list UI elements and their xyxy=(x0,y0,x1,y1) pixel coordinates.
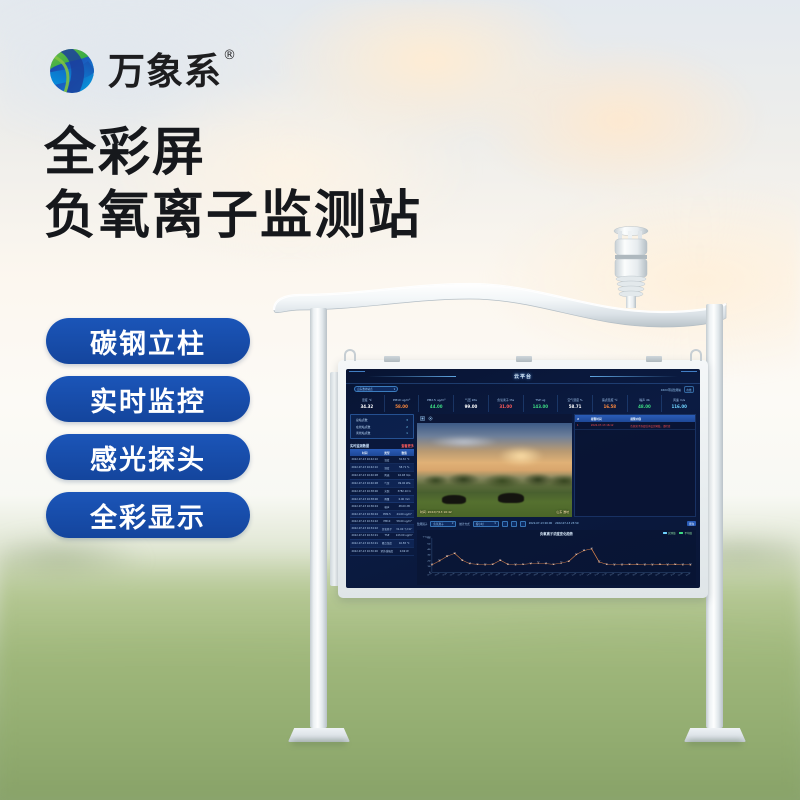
svg-text:14: 14 xyxy=(522,563,525,564)
metric-pm10: PM10 ug/m³ 58.00 xyxy=(385,395,420,412)
svg-text:14:00: 14:00 xyxy=(587,573,593,576)
svg-text:50: 50 xyxy=(427,544,431,545)
stat-value: 1 xyxy=(406,431,408,435)
video-location-overlay: 山东 潍坊 xyxy=(557,510,569,514)
cell-value: 3782.10 lx xyxy=(394,487,414,495)
metric-negative-ion: 负氧离子 ths 31.00 xyxy=(489,395,524,412)
svg-text:08:00: 08:00 xyxy=(518,573,524,576)
cell-type: 噪声 xyxy=(379,503,394,511)
metric-pressure: 气压 kPa 99.00 xyxy=(454,395,489,412)
svg-text:04:40: 04:40 xyxy=(480,573,486,576)
cell-value: 0.69 W xyxy=(394,547,414,555)
fullscreen-icon[interactable] xyxy=(420,416,425,421)
metric-label: 风速 m/s xyxy=(662,398,696,402)
stat-row-online: 在线站点数 2 xyxy=(356,425,408,429)
cell-type: 湿度 xyxy=(379,464,394,472)
cell-value: 99.00 kPa xyxy=(394,479,414,487)
video-toolbar xyxy=(417,414,572,423)
stat-label: 总站点数 xyxy=(356,418,368,422)
svg-text:13: 13 xyxy=(643,563,646,564)
right-support-post xyxy=(706,304,723,728)
stat-row-offline: 离线站点数 1 xyxy=(356,431,408,435)
svg-text:00:40: 00:40 xyxy=(434,573,440,576)
svg-text:16:00: 16:00 xyxy=(609,573,615,576)
cell-type: TSP xyxy=(379,532,394,539)
cell-type: 紫外线强度 xyxy=(379,547,394,555)
led-screen-dashboard[interactable]: 云平台 山东潍坊站点 ▾ XXXX环境监测站 在线 温度 ℃ 34.32 PM1… xyxy=(346,369,700,588)
svg-text:个/cm³: 个/cm³ xyxy=(423,536,431,538)
cabinet-hanger-left xyxy=(344,349,356,361)
svg-text:21: 21 xyxy=(461,559,464,560)
alarm-row[interactable]: 1 2022-07-13 16:12 负氧离子浓度低于设定阈值，请检查 xyxy=(575,422,695,430)
cell-value: 58.71 % xyxy=(394,464,414,472)
legend-label: 平均值 xyxy=(684,531,692,535)
metric-noise: 噪声 db 48.00 xyxy=(628,395,663,412)
svg-text:18:40: 18:40 xyxy=(640,573,646,576)
alarm-content: 负氧离子浓度低于设定阈值，请检查 xyxy=(630,424,693,428)
svg-text:10:40: 10:40 xyxy=(549,573,555,576)
metric-temperature: 温度 ℃ 34.32 xyxy=(350,395,385,412)
video-cloud xyxy=(429,436,499,448)
metric-label: 噪声 db xyxy=(628,398,662,402)
cabinet-clip-right xyxy=(646,356,662,362)
query-button[interactable]: 查询 xyxy=(687,521,696,526)
svg-text:38: 38 xyxy=(583,549,586,550)
cell-time: 2022-07-13 16:32:01 xyxy=(350,539,379,547)
table-row[interactable]: 2022-07-13 16:40:08气压99.00 kPa xyxy=(350,479,414,487)
svg-text:13: 13 xyxy=(484,563,487,564)
table-row[interactable]: 2022-07-13 16:38:06光照3782.10 lx xyxy=(350,487,414,495)
factor-select[interactable]: 负氧离子 ▾ xyxy=(430,521,456,527)
alarm-log-panel: # 报警时间 报警内容 1 2022-07-13 16:12 负氧离子浓度低于设… xyxy=(574,414,696,517)
cell-type: 负氧离子 xyxy=(379,525,394,533)
alarm-column-index: # xyxy=(577,417,591,421)
legend-label: 实测值 xyxy=(668,531,676,535)
chevron-down-icon: ▾ xyxy=(452,522,453,525)
table-row[interactable]: 2022-07-13 16:36:04噪声48.00 dB xyxy=(350,503,414,511)
table-header-bar: 实时监测数据 查看更多 xyxy=(350,442,414,449)
svg-text:14: 14 xyxy=(507,563,510,564)
metric-pm25: PM2.5 ug/m³ 44.00 xyxy=(419,395,454,412)
svg-text:08:40: 08:40 xyxy=(526,573,532,576)
cell-type: 温度 xyxy=(379,456,394,463)
table-section-title: 实时监测数据 xyxy=(350,443,369,448)
svg-text:15: 15 xyxy=(469,562,472,563)
video-cow-2 xyxy=(498,493,524,503)
svg-text:09:20: 09:20 xyxy=(533,573,539,576)
svg-text:14:40: 14:40 xyxy=(594,573,600,576)
svg-text:14: 14 xyxy=(552,563,555,564)
svg-text:01:20: 01:20 xyxy=(442,573,448,576)
metric-strip: 温度 ℃ 34.32 PM10 ug/m³ 58.00 PM2.5 ug/m³ … xyxy=(350,395,696,412)
svg-text:02:00: 02:00 xyxy=(450,573,456,576)
cell-time: 2022-07-13 16:30:00 xyxy=(350,547,379,555)
svg-text:16:40: 16:40 xyxy=(617,573,623,576)
legend-item-2: 平均值 xyxy=(679,531,692,535)
svg-text:18: 18 xyxy=(598,560,601,561)
left-column: 总站点数 3 在线站点数 2 离线站点数 1 实时监测数据 查看更多 xyxy=(350,414,414,544)
title-wing-left xyxy=(368,376,456,377)
svg-text:28: 28 xyxy=(446,555,449,556)
metric-label: PM10 ug/m³ xyxy=(385,398,419,402)
metric-value: 44.00 xyxy=(419,404,453,409)
svg-text:40: 40 xyxy=(427,549,431,550)
table-row[interactable]: 2022-07-13 16:30:00紫外线强度0.69 W xyxy=(350,547,414,555)
chart-svg: 0102030405060个/cm³1320283321151413142114… xyxy=(417,536,696,585)
column-header-value: 数值 xyxy=(394,449,414,456)
cell-value: 16.58 ℃ xyxy=(394,539,414,547)
svg-text:13:20: 13:20 xyxy=(579,573,585,576)
cell-time: 2022-07-13 16:36:04 xyxy=(350,511,379,518)
cell-type: 风速 xyxy=(379,471,394,479)
realtime-data-table: 时间 类型 数值 2022-07-13 16:42:10温度34.32 ℃202… xyxy=(350,449,414,556)
svg-text:06:40: 06:40 xyxy=(503,573,509,576)
chevron-down-icon: ▾ xyxy=(394,388,395,391)
cell-type: 光照 xyxy=(379,487,394,495)
svg-text:20: 20 xyxy=(427,561,431,562)
date-end[interactable]: 2022-07-13 23:59 xyxy=(555,522,578,525)
cell-value: 0.00 mm xyxy=(394,495,414,503)
svg-text:18:00: 18:00 xyxy=(632,573,638,576)
cell-value: 31.00 个/cm³ xyxy=(394,525,414,533)
svg-text:14: 14 xyxy=(628,563,631,564)
chevron-down-icon: ▾ xyxy=(494,522,495,525)
curved-canopy xyxy=(270,278,730,338)
cell-value: 48.00 dB xyxy=(394,503,414,511)
svg-text:31: 31 xyxy=(575,553,578,554)
metric-value: 48.00 xyxy=(628,404,662,409)
svg-text:13: 13 xyxy=(651,563,654,564)
station-selector-value: 山东潍坊站点 xyxy=(357,387,373,391)
svg-text:19:20: 19:20 xyxy=(647,573,653,576)
metric-label: 气压 kPa xyxy=(454,398,488,402)
cell-type: PM10 xyxy=(379,518,394,525)
svg-text:02:40: 02:40 xyxy=(457,573,463,576)
svg-text:10: 10 xyxy=(427,566,431,567)
metric-value: 99.00 xyxy=(454,404,488,409)
metric-label: TSP ug xyxy=(524,398,558,402)
title-wing-right xyxy=(590,376,678,377)
svg-text:12:40: 12:40 xyxy=(571,573,577,576)
svg-text:20:00: 20:00 xyxy=(655,573,661,576)
cell-time: 2022-07-13 16:38:06 xyxy=(350,487,379,495)
metric-humidity: 空气湿度 % 58.71 xyxy=(558,395,593,412)
svg-text:21:20: 21:20 xyxy=(670,573,676,576)
cell-type: 露点温度 xyxy=(379,539,394,547)
cell-time: 2022-07-13 16:40:08 xyxy=(350,479,379,487)
svg-text:14: 14 xyxy=(476,563,479,564)
cabinet-clip-left xyxy=(384,356,400,362)
metric-label: PM2.5 ug/m³ xyxy=(419,398,453,402)
metric-value: 34.32 xyxy=(350,404,384,409)
table-header-row: 时间 类型 数值 xyxy=(350,449,414,456)
stat-method-value: 按小时 xyxy=(476,522,484,526)
svg-text:30: 30 xyxy=(427,555,431,556)
cell-type: PM2.5 xyxy=(379,511,394,518)
station-status-badge: 在线 xyxy=(684,386,694,393)
column-header-type: 类型 xyxy=(379,449,394,456)
metric-value: 58.71 xyxy=(558,404,592,409)
svg-text:33: 33 xyxy=(453,552,456,553)
cell-time: 2022-07-13 16:42:10 xyxy=(350,456,379,463)
cell-value: 16.48 m/s xyxy=(394,471,414,479)
svg-text:20: 20 xyxy=(438,559,441,560)
cell-time: 2022-07-13 16:38:06 xyxy=(350,495,379,503)
svg-text:07:20: 07:20 xyxy=(510,573,516,576)
metric-dewpoint: 露点温度 ℃ 16.58 xyxy=(593,395,628,412)
svg-text:11:20: 11:20 xyxy=(556,573,562,576)
right-base-plate-shadow xyxy=(688,740,742,745)
ultrasonic-weather-sensor xyxy=(604,222,658,308)
snapshot-icon[interactable] xyxy=(428,416,433,421)
metric-value: 31.00 xyxy=(489,404,523,409)
table-row[interactable]: 2022-07-13 16:40:08风速16.48 m/s xyxy=(350,471,414,479)
svg-text:04:00: 04:00 xyxy=(472,573,478,576)
alarm-column-time: 报警时间 xyxy=(591,417,630,421)
control-label-factor: 监测因子 xyxy=(417,522,427,526)
svg-text:13: 13 xyxy=(431,563,434,564)
chart-control-strip: 监测因子 负氧离子 ▾ 统计方式 按小时 ▾ 2022-07-13 00:00 … xyxy=(417,519,696,528)
stat-value: 3 xyxy=(406,418,408,422)
video-treeline xyxy=(417,468,572,489)
dashboard-title-bar: 云平台 xyxy=(346,369,700,384)
metric-label: 露点温度 ℃ xyxy=(593,398,627,402)
stat-label: 在线站点数 xyxy=(356,425,370,429)
svg-text:22:40: 22:40 xyxy=(685,573,691,576)
alarm-column-content: 报警内容 xyxy=(630,417,693,421)
stat-row-total: 总站点数 3 xyxy=(356,418,408,422)
table-row[interactable]: 2022-07-13 16:38:06雨量0.00 mm xyxy=(350,495,414,503)
svg-text:14: 14 xyxy=(491,563,494,564)
table-row[interactable]: 2022-07-13 16:34:02PM1058.00 ug/m³ xyxy=(350,518,414,525)
cell-time: 2022-07-13 16:40:08 xyxy=(350,471,379,479)
svg-text:13: 13 xyxy=(514,563,517,564)
video-feed-image xyxy=(417,423,572,517)
station-info: XXXX环境监测站 在线 xyxy=(661,386,694,393)
svg-text:14: 14 xyxy=(636,563,639,564)
view-chart-button[interactable] xyxy=(511,521,517,527)
station-stat-box: 总站点数 3 在线站点数 2 离线站点数 1 xyxy=(350,414,414,439)
alarm-header-row: # 报警时间 报警内容 xyxy=(575,415,695,422)
cell-time: 2022-07-13 16:32:01 xyxy=(350,532,379,539)
station-selector[interactable]: 山东潍坊站点 ▾ xyxy=(354,386,398,392)
corner-tick-right xyxy=(681,371,697,378)
stat-method-select[interactable]: 按小时 ▾ xyxy=(473,521,499,527)
metric-value: 58.00 xyxy=(385,404,419,409)
video-cow-1 xyxy=(442,495,466,504)
metric-label: 空气湿度 % xyxy=(558,398,592,402)
station-info-text: XXXX环境监测站 xyxy=(661,388,681,392)
alarm-index: 1 xyxy=(577,424,591,428)
table-row[interactable]: 2022-07-13 16:32:01TSP143.00 ug/m³ xyxy=(350,532,414,539)
cell-time: 2022-07-13 16:34:02 xyxy=(350,525,379,533)
cell-value: 44.00 ug/m³ xyxy=(394,511,414,518)
svg-text:12:00: 12:00 xyxy=(564,573,570,576)
svg-text:05:20: 05:20 xyxy=(488,573,494,576)
camera-video-panel[interactable]: 时间: 2022/7/13 16:42 山东 潍坊 xyxy=(417,414,572,517)
cell-value: 34.32 ℃ xyxy=(394,456,414,463)
svg-text:14: 14 xyxy=(605,563,608,564)
legend-item-1: 实测值 xyxy=(663,531,676,535)
corner-tick-left xyxy=(349,371,365,378)
table-row[interactable]: 2022-07-13 16:32:01露点温度16.58 ℃ xyxy=(350,539,414,547)
metric-label: 负氧离子 ths xyxy=(489,398,523,402)
metric-value: 16.58 xyxy=(593,404,627,409)
legend-swatch xyxy=(679,532,683,534)
svg-text:13: 13 xyxy=(682,563,685,564)
stat-label: 离线站点数 xyxy=(356,431,370,435)
left-support-post xyxy=(310,308,327,728)
table-row[interactable]: 2022-07-13 16:34:02负氧离子31.00 个/cm³ xyxy=(350,525,414,533)
alarm-time: 2022-07-13 16:12 xyxy=(591,424,630,428)
metric-wind: 风速 m/s 116.00 xyxy=(662,395,696,412)
video-timestamp-overlay: 时间: 2022/7/13 16:42 xyxy=(420,510,452,514)
chart-legend: 实测值 平均值 xyxy=(663,531,692,535)
video-sunset-glow xyxy=(498,446,544,466)
cell-time: 2022-07-13 16:42:10 xyxy=(350,464,379,472)
svg-text:20:40: 20:40 xyxy=(663,573,669,576)
table-more-link[interactable]: 查看更多 xyxy=(401,443,414,448)
table-row[interactable]: 2022-07-13 16:42:10湿度58.71 % xyxy=(350,464,414,472)
cell-value: 143.00 ug/m³ xyxy=(394,532,414,539)
svg-text:22:00: 22:00 xyxy=(678,573,684,576)
svg-text:14: 14 xyxy=(674,563,677,564)
svg-text:13: 13 xyxy=(689,563,692,564)
svg-text:15: 15 xyxy=(545,562,548,563)
table-body: 2022-07-13 16:42:10温度34.32 ℃2022-07-13 1… xyxy=(350,456,414,555)
metric-value: 116.00 xyxy=(662,404,696,409)
svg-text:15: 15 xyxy=(529,562,532,563)
svg-text:14: 14 xyxy=(659,563,662,564)
legend-swatch xyxy=(663,532,667,534)
svg-text:21: 21 xyxy=(499,559,502,560)
metric-value: 143.00 xyxy=(524,404,558,409)
svg-text:41: 41 xyxy=(590,547,593,548)
date-start[interactable]: 2022-07-13 00:00 xyxy=(529,522,552,525)
svg-text:00:00: 00:00 xyxy=(427,573,433,576)
svg-text:13: 13 xyxy=(666,563,669,564)
left-base-plate-shadow xyxy=(292,740,346,745)
display-cabinet: 云平台 山东潍坊站点 ▾ XXXX环境监测站 在线 温度 ℃ 34.32 PM1… xyxy=(338,360,708,598)
export-button[interactable] xyxy=(520,521,526,527)
trend-chart-panel: 负氧离子浓度变化趋势 实测值 平均值 0102030405060个/cm³132… xyxy=(417,530,696,585)
table-row[interactable]: 2022-07-13 16:36:04PM2.544.00 ug/m³ xyxy=(350,511,414,518)
svg-text:13: 13 xyxy=(621,563,624,564)
metric-tsp: TSP ug 143.00 xyxy=(524,395,559,412)
dashboard-title: 云平台 xyxy=(514,373,532,380)
svg-text:17:20: 17:20 xyxy=(625,573,631,576)
stat-value: 2 xyxy=(406,425,408,429)
svg-text:19: 19 xyxy=(567,560,570,561)
cell-time: 2022-07-13 16:34:02 xyxy=(350,518,379,525)
cabinet-hanger-right xyxy=(690,349,702,361)
svg-text:10:00: 10:00 xyxy=(541,573,547,576)
cell-type: 雨量 xyxy=(379,495,394,503)
factor-select-value: 负氧离子 xyxy=(433,522,443,526)
cell-type: 气压 xyxy=(379,479,394,487)
column-header-time: 时间 xyxy=(350,449,379,456)
table-row[interactable]: 2022-07-13 16:42:10温度34.32 ℃ xyxy=(350,456,414,463)
svg-text:16: 16 xyxy=(537,562,540,563)
cell-time: 2022-07-13 16:36:04 xyxy=(350,503,379,511)
metric-label: 温度 ℃ xyxy=(350,398,384,402)
cabinet-clip-center xyxy=(516,356,532,362)
cell-value: 58.00 ug/m³ xyxy=(394,518,414,525)
svg-text:15:20: 15:20 xyxy=(602,573,608,576)
view-table-button[interactable] xyxy=(502,521,508,527)
svg-text:03:20: 03:20 xyxy=(465,573,471,576)
svg-text:06:00: 06:00 xyxy=(495,573,501,576)
svg-text:16: 16 xyxy=(560,562,563,563)
svg-text:13: 13 xyxy=(613,563,616,564)
control-label-stat: 统计方式 xyxy=(459,522,469,526)
